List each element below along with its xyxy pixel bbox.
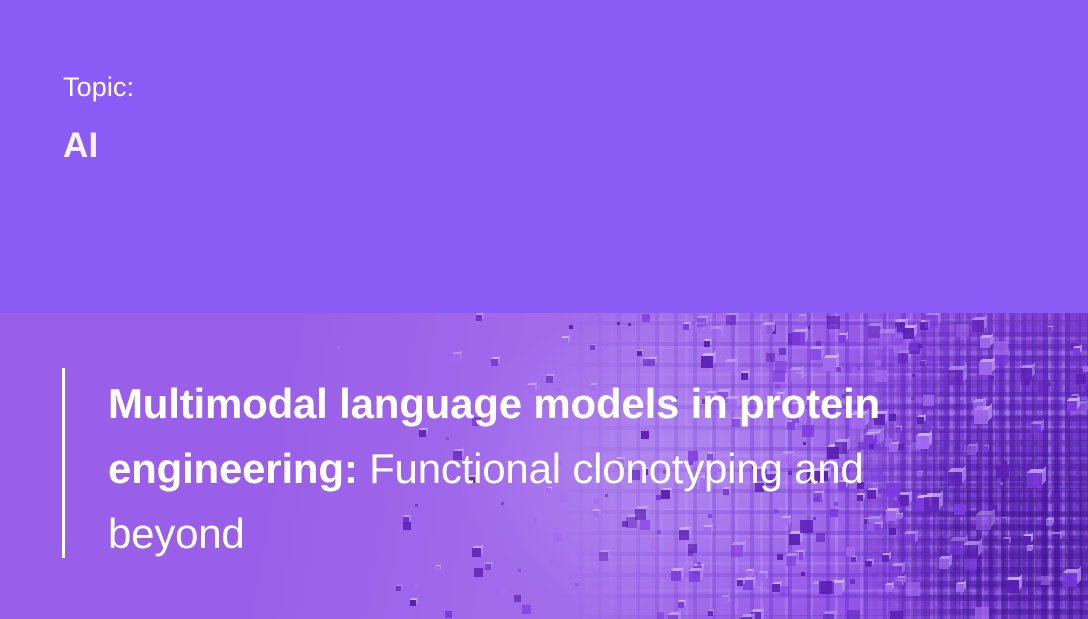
particle-cube	[1046, 520, 1052, 526]
particle-cube	[990, 376, 994, 380]
particle-cube	[476, 315, 482, 321]
particle-cube	[956, 584, 964, 592]
particle-cube	[1084, 600, 1088, 610]
particle-cube	[637, 351, 642, 356]
particle-cube	[414, 584, 419, 589]
particle-cube	[410, 600, 416, 606]
particle-cube	[1028, 592, 1033, 597]
particle-cube	[708, 611, 713, 616]
particle-cube	[772, 584, 780, 592]
particle-cube	[887, 594, 892, 599]
particle-cube	[1023, 536, 1031, 544]
particle-cube	[1027, 546, 1032, 551]
particle-cube	[396, 586, 401, 591]
particle-cube	[792, 332, 805, 345]
particle-cube	[850, 579, 855, 584]
particle-cube	[890, 611, 903, 619]
particle-cube	[918, 344, 922, 348]
particle-cube	[628, 323, 631, 326]
particle-cube	[972, 320, 984, 332]
particle-cube	[780, 586, 790, 596]
particle-cube	[1027, 473, 1042, 488]
particle-cube	[801, 572, 805, 576]
particle-cube	[1003, 539, 1009, 545]
particle-cube	[678, 602, 684, 608]
particle-cube	[956, 324, 969, 337]
particle-cube	[704, 341, 710, 347]
particle-cube	[934, 606, 937, 609]
particle-cube	[1083, 366, 1088, 372]
particle-cube	[721, 597, 728, 604]
title-accent-bar	[62, 368, 65, 558]
particle-cube	[1031, 424, 1041, 434]
particle-cube	[779, 348, 786, 355]
particle-cube	[993, 603, 996, 606]
particle-cube	[897, 581, 902, 586]
particle-cube	[1048, 548, 1051, 551]
top-band: Topic: AI	[0, 0, 1088, 313]
particle-cube	[1041, 576, 1050, 585]
particle-cube	[514, 595, 521, 602]
particle-cube	[1050, 494, 1060, 504]
particle-cube	[903, 328, 914, 339]
topic-value: AI	[63, 125, 98, 167]
particle-cube	[528, 351, 536, 359]
particle-cube	[642, 314, 650, 322]
particle-cube	[648, 359, 655, 366]
particle-cube	[868, 326, 880, 338]
particle-cube	[1038, 380, 1050, 392]
particle-cube	[726, 315, 736, 325]
particle-cube	[879, 333, 893, 347]
particle-cube	[892, 566, 902, 576]
particle-cube	[452, 354, 460, 362]
particle-cube	[1047, 327, 1052, 332]
particle-cube	[689, 571, 700, 582]
particle-cube	[755, 588, 760, 593]
particle-cube	[657, 612, 664, 619]
particle-cube	[1067, 401, 1077, 411]
particle-cube	[1000, 482, 1003, 485]
particle-cube	[925, 315, 938, 328]
particle-cube	[1024, 379, 1030, 385]
particle-cube	[847, 610, 860, 619]
particle-cube	[798, 316, 805, 323]
particle-cube	[575, 583, 578, 586]
topic-label: Topic:	[63, 71, 134, 103]
particle-cube	[737, 580, 743, 586]
particle-cube	[604, 345, 607, 348]
particle-cube	[683, 324, 689, 330]
particle-cube	[701, 356, 713, 368]
particle-cube	[1052, 534, 1060, 542]
particle-cube	[766, 353, 775, 362]
particle-cube	[875, 360, 881, 366]
particle-cube	[751, 572, 755, 576]
promo-card: Topic: AI Multimodal language models in …	[0, 0, 1088, 619]
particle-cube	[1014, 324, 1018, 328]
particle-cube	[522, 605, 531, 614]
page-title: Multimodal language models in protein en…	[108, 371, 988, 566]
particle-cube	[996, 465, 1009, 478]
particle-cube	[762, 325, 772, 335]
particle-cube	[975, 607, 989, 619]
particle-cube	[1001, 518, 1006, 523]
particle-cube	[561, 338, 568, 345]
particle-cube	[857, 367, 860, 370]
particle-cube	[499, 587, 508, 596]
particle-cube	[529, 360, 535, 366]
particle-cube	[823, 614, 834, 619]
particle-cube	[668, 615, 678, 619]
particle-cube	[491, 359, 498, 366]
particle-cube	[518, 569, 521, 572]
particle-cube	[1073, 348, 1080, 355]
particle-cube	[838, 335, 846, 343]
particle-cube	[980, 338, 990, 348]
particle-cube	[892, 334, 903, 345]
particle-cube	[827, 316, 840, 329]
particle-cube	[898, 353, 908, 363]
particle-cube	[590, 345, 595, 350]
particle-cube	[821, 581, 834, 594]
particle-cube	[823, 358, 836, 371]
particle-cube	[697, 318, 706, 327]
particle-cube	[671, 571, 681, 581]
particle-cube	[994, 341, 1008, 355]
particle-cube	[906, 582, 920, 596]
particle-cube	[758, 573, 766, 581]
particle-cube	[1076, 374, 1086, 384]
particle-cube	[810, 349, 821, 360]
particle-cube	[1006, 580, 1019, 593]
particle-cube	[569, 325, 573, 329]
particle-cube	[1063, 573, 1077, 587]
particle-cube	[337, 346, 340, 349]
particle-cube	[885, 585, 892, 592]
particle-cube	[474, 568, 483, 577]
particle-cube	[900, 323, 905, 328]
particle-cube	[435, 566, 440, 571]
particle-cube	[920, 361, 925, 366]
particle-cube	[617, 322, 620, 325]
particle-cube	[445, 611, 452, 618]
